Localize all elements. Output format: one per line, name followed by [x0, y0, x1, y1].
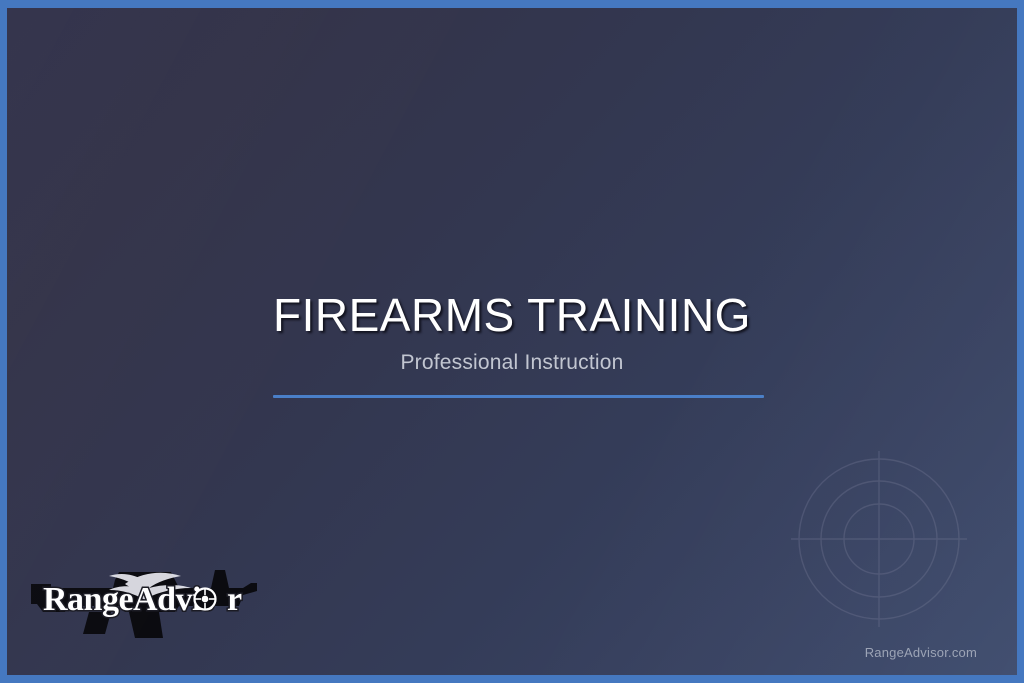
page-title: FIREARMS TRAINING — [7, 291, 1017, 339]
accent-divider — [273, 395, 764, 398]
slide-frame: FIREARMS TRAINING Professional Instructi… — [0, 0, 1024, 683]
svg-text:RangeAdvis: RangeAdvis — [43, 581, 214, 618]
scope-reticle-icon — [195, 589, 216, 610]
page-subtitle: Professional Instruction — [7, 351, 1017, 374]
footer-url: RangeAdvisor.com — [865, 645, 977, 660]
title-block: FIREARMS TRAINING Professional Instructi… — [7, 291, 1017, 374]
svg-text:r: r — [227, 581, 242, 618]
brand-logo: RangeAdvis r — [29, 554, 261, 640]
crosshair-target-icon — [791, 451, 967, 627]
slide-canvas: FIREARMS TRAINING Professional Instructi… — [7, 8, 1017, 675]
